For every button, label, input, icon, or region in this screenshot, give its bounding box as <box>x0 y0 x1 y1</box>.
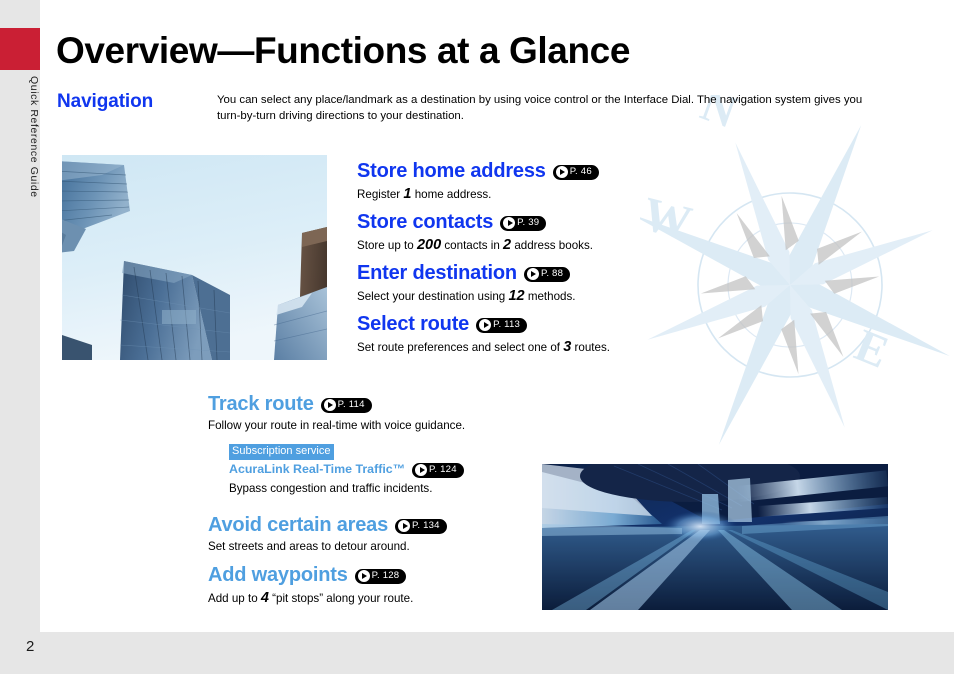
page-footer <box>0 632 954 674</box>
page-ref-badge[interactable]: P. 46 <box>553 165 599 180</box>
subscription-heading-row: AcuraLink Real-Time Traffic™ P. 124 <box>229 462 465 477</box>
feature-description: Register 1 home address. <box>357 186 599 202</box>
feature-heading-row: Avoid certain areas P. 134 <box>208 515 447 535</box>
desc-part-1: Select your destination using <box>357 290 508 303</box>
feature-heading: Track route <box>208 394 314 414</box>
page-ref-badge[interactable]: P. 124 <box>412 463 464 478</box>
feature-heading-row: Track route P. 114 <box>208 394 465 414</box>
page-ref-label: P. 114 <box>338 400 365 410</box>
arrow-right-icon <box>324 399 336 411</box>
page-number: 2 <box>26 638 34 655</box>
feature-description: Follow your route in real-time with voic… <box>208 419 465 432</box>
desc-number-1: 12 <box>508 288 524 304</box>
feature-heading: Store contacts <box>357 212 493 232</box>
page-title: Overview—Functions at a Glance <box>56 30 630 72</box>
subscription-heading: AcuraLink Real-Time Traffic™ <box>229 463 405 475</box>
arrow-right-icon <box>398 520 410 532</box>
feature-store-home-address: Store home address P. 46 Register 1 home… <box>357 161 599 202</box>
side-tab-label: Quick Reference Guide <box>0 76 40 198</box>
desc-number-1: 200 <box>417 237 441 253</box>
desc-part-2: home address. <box>411 188 491 201</box>
desc-part-1: Register <box>357 188 403 201</box>
feature-track-route: Track route P. 114 Follow your route in … <box>208 394 465 495</box>
feature-enter-destination: Enter destination P. 88 Select your dest… <box>357 263 576 304</box>
feature-description: Add up to 4 “pit stops” along your route… <box>208 590 413 606</box>
arrow-right-icon <box>527 268 539 280</box>
feature-description: Select your destination using 12 methods… <box>357 288 576 304</box>
feature-heading-row: Enter destination P. 88 <box>357 263 576 283</box>
arrow-right-icon <box>415 464 427 476</box>
desc-part-2: methods. <box>525 290 576 303</box>
desc-part-1: Store up to <box>357 239 417 252</box>
tunnel-road-motion-photo <box>542 464 888 610</box>
page-ref-badge[interactable]: P. 88 <box>524 267 570 282</box>
feature-heading: Avoid certain areas <box>208 515 388 535</box>
feature-heading: Select route <box>357 314 469 334</box>
desc-part-2: contacts in <box>441 239 503 252</box>
subscription-description: Bypass congestion and traffic incidents. <box>229 482 465 495</box>
desc-number-1: 4 <box>261 590 269 606</box>
desc-part-1: Add up to <box>208 592 261 605</box>
page-ref-label: P. 46 <box>570 167 592 177</box>
feature-select-route: Select route P. 113 Set route preference… <box>357 314 610 355</box>
feature-heading: Enter destination <box>357 263 517 283</box>
page-ref-badge[interactable]: P. 113 <box>476 318 527 333</box>
page-ref-badge[interactable]: P. 134 <box>395 519 447 534</box>
compass-west-label-wrap: W <box>636 182 706 252</box>
page-ref-label: P. 39 <box>517 218 539 228</box>
feature-heading-row: Add waypoints P. 128 <box>208 565 413 585</box>
page-ref-label: P. 124 <box>429 465 457 475</box>
side-tab-color-block <box>0 28 40 70</box>
city-skyscrapers-photo <box>62 155 327 360</box>
page-ref-label: P. 134 <box>412 521 440 531</box>
page-ref-label: P. 88 <box>541 269 563 279</box>
desc-part-2: routes. <box>571 341 610 354</box>
arrow-right-icon <box>358 570 370 582</box>
page-ref-label: P. 128 <box>372 571 400 581</box>
feature-heading-row: Select route P. 113 <box>357 314 610 334</box>
feature-avoid-certain-areas: Avoid certain areas P. 134 Set streets a… <box>208 515 447 553</box>
feature-store-contacts: Store contacts P. 39 Store up to 200 con… <box>357 212 593 253</box>
section-intro-text: You can select any place/landmark as a d… <box>217 92 882 124</box>
page-ref-badge[interactable]: P. 128 <box>355 569 407 584</box>
feature-heading-row: Store home address P. 46 <box>357 161 599 181</box>
section-title: Navigation <box>57 91 153 113</box>
subscription-service-badge: Subscription service <box>229 444 334 460</box>
desc-number-2: 2 <box>503 237 511 253</box>
page-ref-badge[interactable]: P. 114 <box>321 398 372 413</box>
feature-heading-row: Store contacts P. 39 <box>357 212 593 232</box>
feature-description: Store up to 200 contacts in 2 address bo… <box>357 237 593 253</box>
manual-page: N E S W Quick Reference Guide Overview—F… <box>0 0 954 674</box>
side-tab: Quick Reference Guide <box>0 0 40 632</box>
desc-part-1: Set route preferences and select one of <box>357 341 563 354</box>
compass-west-label: W <box>637 187 696 250</box>
page-ref-label: P. 113 <box>493 320 520 330</box>
feature-heading: Add waypoints <box>208 565 348 585</box>
feature-description: Set route preferences and select one of … <box>357 339 610 355</box>
arrow-right-icon <box>503 217 515 229</box>
desc-part-2: “pit stops” along your route. <box>269 592 413 605</box>
feature-description: Set streets and areas to detour around. <box>208 540 447 553</box>
arrow-right-icon <box>479 319 491 331</box>
page-ref-badge[interactable]: P. 39 <box>500 216 546 231</box>
feature-heading: Store home address <box>357 161 546 181</box>
arrow-right-icon <box>556 166 568 178</box>
desc-part-3: address books. <box>511 239 593 252</box>
feature-add-waypoints: Add waypoints P. 128 Add up to 4 “pit st… <box>208 565 413 606</box>
subscription-service-block: Subscription service AcuraLink Real-Time… <box>229 441 465 495</box>
